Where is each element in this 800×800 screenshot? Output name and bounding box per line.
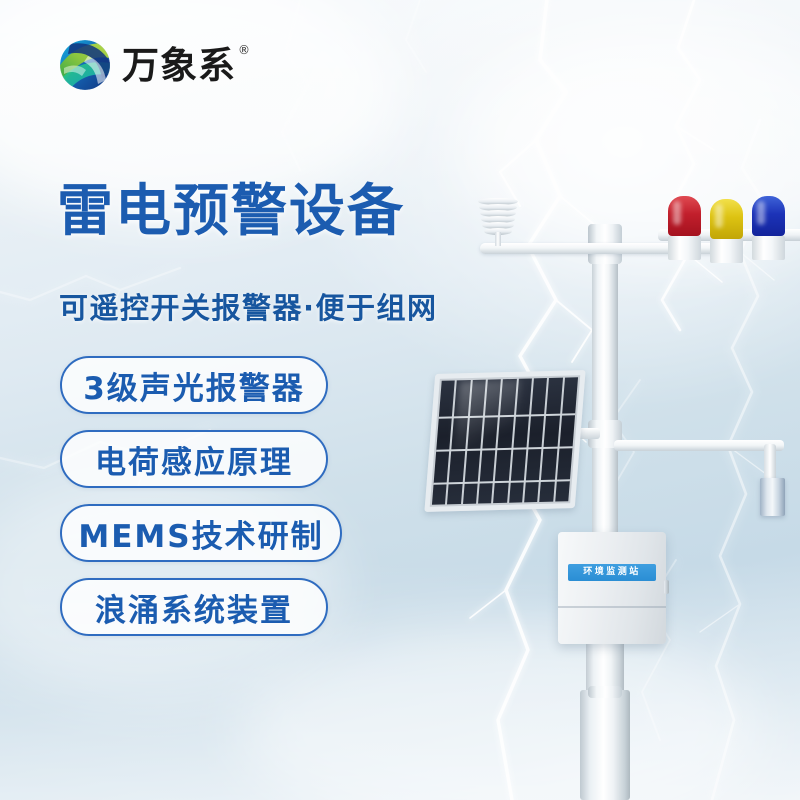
solar-panel-glare [453, 379, 521, 460]
enclosure-latch [664, 580, 669, 594]
sensor-bracket-arm [614, 440, 784, 451]
brand-logo: 万象系 ® [58, 38, 236, 92]
yellow-alarm-beacon [710, 199, 743, 263]
mast-pole [592, 232, 618, 800]
radiation-shield-sensor [478, 198, 518, 238]
page-subtitle: 可遥控开关报警器·便于组网 [59, 285, 438, 327]
brand-name-text: 万象系 [122, 44, 236, 87]
product-poster: 万象系 ® 雷电预警设备 可遥控开关报警器·便于组网 3级声光报警器 电荷感应原… [0, 0, 800, 800]
enclosure-label: 环境监测站 [568, 564, 656, 581]
feature-pill-mems-technology: MEMS技术研制 [60, 504, 342, 562]
mast-collar-lower [588, 584, 622, 598]
blue-alarm-beacon [752, 196, 785, 260]
mast-collar-mid [588, 420, 622, 448]
solar-panel-arm [566, 428, 600, 439]
page-title: 雷电预警设备 [57, 183, 405, 242]
mast-pole-lower [586, 588, 624, 800]
crossarm [480, 243, 730, 254]
feature-pill-charge-induction: 电荷感应原理 [60, 430, 328, 488]
cylinder-sensor [760, 478, 785, 516]
beacon-mounting-plate [658, 229, 800, 241]
feature-list: 3级声光报警器 电荷感应原理 MEMS技术研制 浪涌系统装置 [60, 356, 342, 636]
solar-panel [424, 370, 585, 512]
enclosure-label-text: 环境监测站 [583, 568, 641, 577]
mast-collar-upper [588, 224, 622, 264]
cloud-wash-bottom-right [240, 620, 760, 800]
globe-swirl-logo-icon [58, 38, 112, 92]
registered-trademark-mark: ® [238, 44, 251, 56]
brand-name: 万象系 ® [122, 47, 236, 84]
enclosure-seam [558, 606, 666, 608]
feature-pill-alarm-levels: 3级声光报警器 [60, 356, 328, 414]
red-alarm-beacon [668, 196, 701, 260]
cloud-wash-top-right [460, 30, 800, 260]
solar-cell-grid [430, 375, 580, 507]
sensor-bracket-drop [764, 444, 776, 482]
controller-enclosure: 环境监测站 [558, 532, 666, 644]
feature-pill-surge-system: 浪涌系统装置 [60, 578, 328, 636]
mast-pole-base [580, 690, 630, 800]
solar-busbars [432, 377, 578, 505]
mast-collar-base [588, 686, 622, 698]
